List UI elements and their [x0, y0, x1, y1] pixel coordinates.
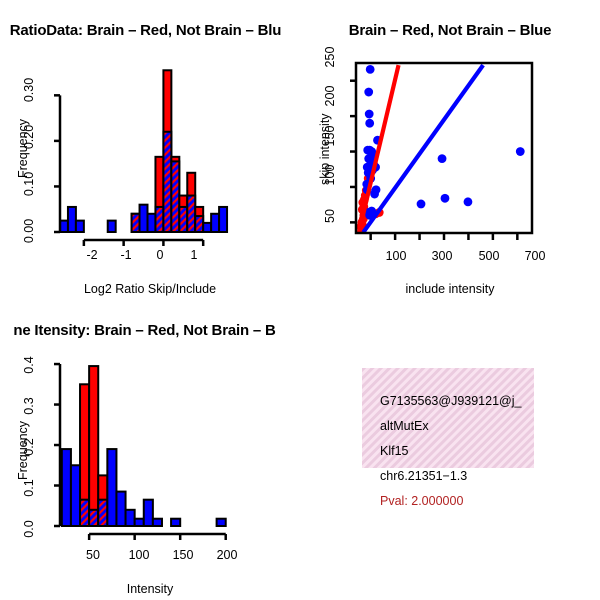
- info-line-pvalue: Pval: 2.000000: [380, 494, 463, 508]
- info-line-locus: chr6.21351−1.3: [380, 469, 467, 483]
- panel-intensity-histogram: ne Itensity: Brain – Red, Not Brain – B …: [0, 300, 300, 600]
- panel-info: G7135563@J939121@j_ altMutEx Klf15 chr6.…: [300, 300, 600, 600]
- scatter-plot: [300, 0, 600, 300]
- info-line-gene-symbol: Klf15: [380, 444, 409, 458]
- info-line-event-type: altMutEx: [380, 419, 429, 433]
- ratio-histogram-plot: [0, 0, 300, 300]
- panel-intensity-scatter: Brain – Red, Not Brain – Blue skip inten…: [300, 0, 600, 300]
- panel-ratio-histogram: RatioData: Brain – Red, Not Brain – Blu …: [0, 0, 300, 300]
- intensity-histogram-plot: [0, 300, 300, 600]
- info-line-probe-id: G7135563@J939121@j_: [380, 394, 521, 408]
